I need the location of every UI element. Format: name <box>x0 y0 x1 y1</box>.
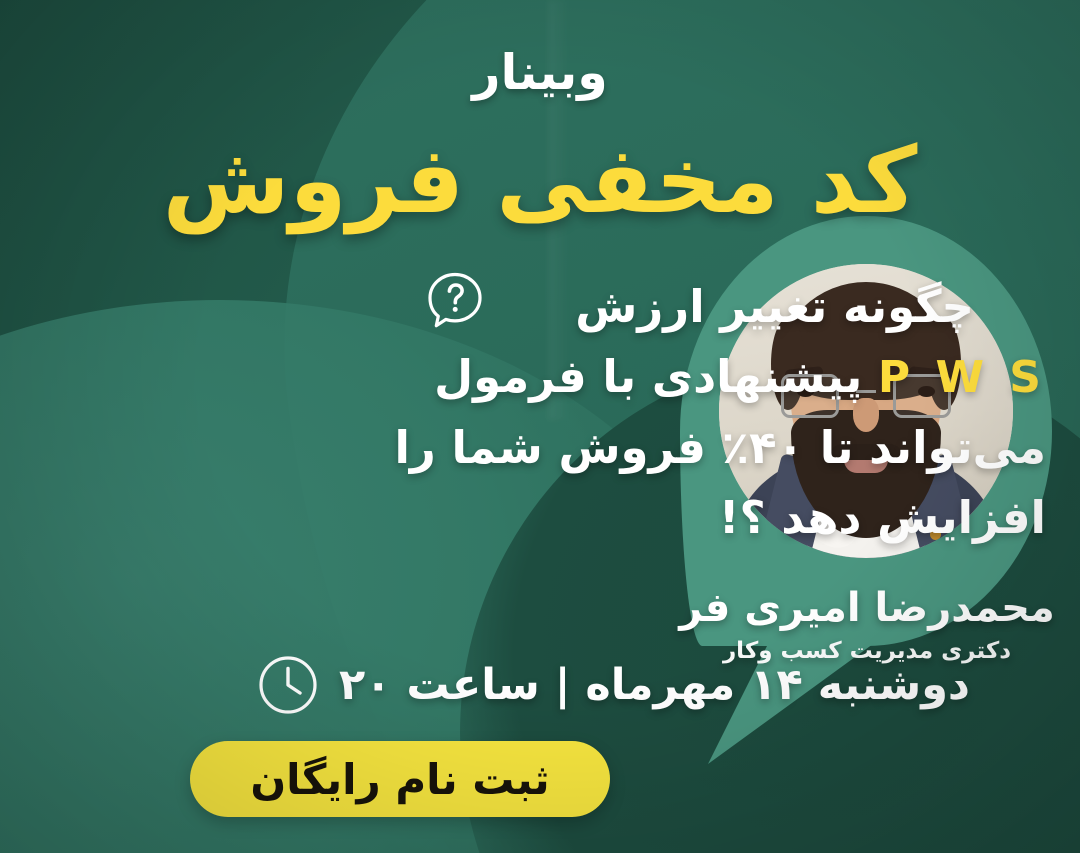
body-copy: چگونه تغییر ارزش P W S پیشنهادی با فرمول… <box>446 272 1046 553</box>
datetime-label: دوشنبه ۱۴ مهرماه | ساعت ۲۰ <box>339 660 970 710</box>
page-title: کد مخفی فروش <box>0 131 1080 230</box>
body-line-2-text: پیشنهادی با فرمول <box>434 350 862 403</box>
webinar-poster: وبینار کد مخفی فروش چگونه تغییر ارزش P W… <box>0 0 1080 853</box>
speaker-info: محمدرضا امیری فر دکتری مدیریت کسب وکار <box>672 586 1062 664</box>
body-line-4: افزایش دهد ؟! <box>446 483 1046 553</box>
body-line-2: P W S پیشنهادی با فرمول <box>446 342 1046 413</box>
clock-icon <box>257 654 319 716</box>
datetime-row: دوشنبه ۱۴ مهرماه | ساعت ۲۰ <box>257 654 970 716</box>
kicker-label: وبینار <box>0 44 1080 101</box>
body-line-3: می‌تواند تا ۴۰٪ فروش شما را <box>446 413 1046 483</box>
register-button[interactable]: ثبت نام رایگان <box>190 741 610 817</box>
formula-highlight: P W S <box>878 352 1046 403</box>
speaker-name: محمدرضا امیری فر <box>672 586 1062 630</box>
body-line-1: چگونه تغییر ارزش <box>446 272 1046 342</box>
